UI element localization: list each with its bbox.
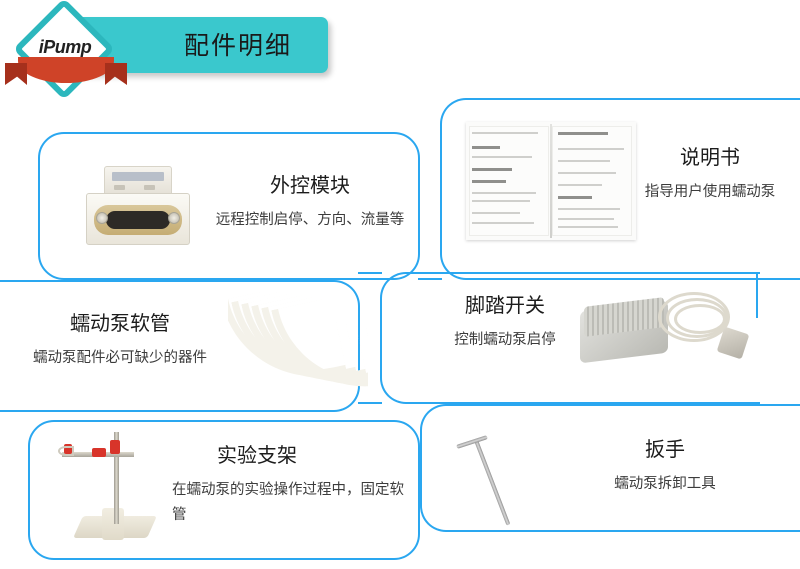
card-title: 扳手	[570, 436, 760, 464]
card-title: 实验支架	[172, 442, 342, 470]
laboratory-retort-stand-image	[58, 424, 188, 548]
card-title: 蠕动泵软管	[10, 310, 230, 338]
card-subtitle: 蠕动泵拆卸工具	[570, 472, 760, 497]
card-text-hose: 蠕动泵软管 蠕动泵配件必可缺少的器件	[10, 310, 230, 371]
db15-external-control-module-image	[86, 166, 196, 250]
card-title: 说明书	[620, 144, 800, 172]
accessory-list-poster: 配件明细 iPump 外控模块 远程控制启停、方向、流量等	[0, 0, 800, 569]
connector-stub-2	[358, 272, 382, 274]
card-title: 脚踏开关	[420, 292, 590, 320]
card-subtitle: 在蠕动泵的实验操作过程中，固定软管	[172, 478, 410, 528]
connector-stub-1	[418, 278, 442, 280]
card-text-external-control-module: 外控模块 远程控制启停、方向、流量等	[200, 172, 420, 233]
card-text-lab-stand: 实验支架 在蠕动泵的实验操作过程中，固定软管	[172, 442, 412, 528]
connector-stub-4	[418, 402, 442, 404]
card-title: 外控模块	[200, 172, 420, 200]
card-subtitle: 蠕动泵配件必可缺少的器件	[10, 346, 230, 371]
page-title: 配件明细	[143, 26, 333, 66]
card-subtitle: 指导用户使用蠕动泵	[620, 180, 800, 205]
brand-logo: iPump	[8, 5, 124, 105]
connector-stub-3	[358, 402, 382, 404]
card-text-foot-switch: 脚踏开关 控制蠕动泵启停	[420, 292, 590, 353]
foot-pedal-switch-image	[580, 288, 760, 388]
card-text-manual: 说明书 指导用户使用蠕动泵	[620, 144, 800, 205]
ribbon-icon	[18, 57, 114, 83]
card-subtitle: 远程控制启停、方向、流量等	[200, 208, 420, 233]
card-text-wrench: 扳手 蠕动泵拆卸工具	[570, 436, 760, 497]
logo-text: iPump	[22, 37, 108, 58]
hex-allen-wrench-image	[452, 420, 562, 530]
silicone-hose-bundle-image	[228, 292, 368, 400]
card-subtitle: 控制蠕动泵启停	[420, 328, 590, 353]
open-manual-booklet-image	[466, 122, 638, 242]
